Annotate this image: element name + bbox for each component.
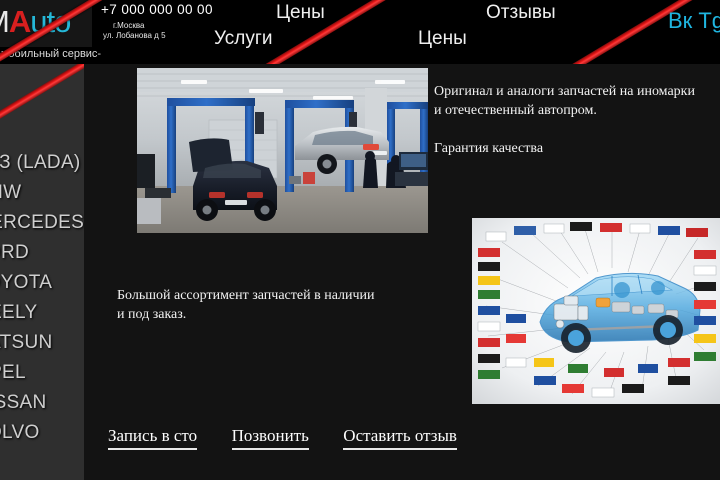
- parts-diagram-photo: [472, 218, 720, 404]
- intro-copy-line-3: Гарантия качества: [434, 139, 720, 158]
- copy-spacer: [434, 120, 720, 139]
- intro-copy-line-1: Оригинал и аналоги запчастей на иномарки: [434, 82, 720, 101]
- workshop-photo: [137, 68, 428, 233]
- action-link-call[interactable]: Позвонить: [232, 426, 309, 450]
- sidebar-item-vaz[interactable]: ВАЗ (LADA): [0, 148, 84, 178]
- assortment-copy-line-1: Большой ассортимент запчастей в наличии: [117, 286, 447, 305]
- assortment-copy: Большой ассортимент запчастей в наличии …: [117, 286, 447, 324]
- site-header: MAuto автомобильный сервис- +7 000 000 0…: [0, 0, 720, 64]
- nav-link-prices-top[interactable]: Цены: [276, 2, 325, 24]
- page-root: MAuto автомобильный сервис- +7 000 000 0…: [0, 0, 720, 480]
- phone-number[interactable]: +7 000 000 00 00: [101, 2, 213, 17]
- nav-link-reviews[interactable]: Отзывы: [486, 2, 556, 24]
- telegram-link[interactable]: Tg: [698, 8, 720, 33]
- sidebar-item-datsun[interactable]: DATSUN: [0, 328, 84, 358]
- sidebar-item-toyota[interactable]: TOYOTA: [0, 268, 84, 298]
- brand-sidebar: ВАЗ (LADA) BMW MERCEDES FORD TOYOTA GEEL…: [0, 64, 84, 480]
- address-street: ул. Лобанова д 5: [103, 31, 213, 40]
- diagonal-stripe: [0, 64, 84, 153]
- sidebar-item-volvo[interactable]: VOLVO: [0, 418, 84, 448]
- logo-letter-m: M: [0, 4, 9, 39]
- nav-link-services[interactable]: Услуги: [214, 28, 272, 50]
- logo-tagline: автомобильный сервис-: [0, 48, 98, 60]
- logo-letters-uto: uto: [30, 4, 70, 39]
- logo-letter-a: A: [9, 4, 30, 39]
- brand-list: ВАЗ (LADA) BMW MERCEDES FORD TOYOTA GEEL…: [0, 148, 84, 448]
- social-links: ВкTg: [668, 8, 720, 34]
- address-city: г.Москва: [113, 21, 213, 30]
- intro-copy-line-2: и отечественный автопром.: [434, 101, 720, 120]
- action-links: Запись в сто Позвонить Оставить отзыв: [108, 426, 538, 450]
- logo-wordmark: MAuto: [0, 4, 70, 40]
- sidebar-item-geely[interactable]: GEELY: [0, 298, 84, 328]
- contact-block: +7 000 000 00 00 г.Москва ул. Лобанова д…: [101, 2, 213, 40]
- workshop-illustration: [137, 68, 428, 233]
- main-content: Оригинал и аналоги запчастей на иномарки…: [84, 64, 720, 480]
- action-link-book-service[interactable]: Запись в сто: [108, 426, 197, 450]
- vk-link[interactable]: Вк: [668, 8, 692, 33]
- sidebar-item-opel[interactable]: OPEL: [0, 358, 84, 388]
- sidebar-item-mercedes[interactable]: MERCEDES: [0, 208, 84, 238]
- sidebar-item-bmw[interactable]: BMW: [0, 178, 84, 208]
- nav-link-prices-mid[interactable]: Цены: [418, 28, 467, 50]
- assortment-copy-line-2: и под заказ.: [117, 305, 447, 324]
- sidebar-item-nissan[interactable]: NISSAN: [0, 388, 84, 418]
- action-link-leave-review[interactable]: Оставить отзыв: [343, 426, 457, 450]
- sidebar-item-ford[interactable]: FORD: [0, 238, 84, 268]
- parts-diagram-illustration: [472, 218, 720, 404]
- logo[interactable]: MAuto: [0, 0, 92, 47]
- intro-copy-right: Оригинал и аналоги запчастей на иномарки…: [434, 82, 720, 158]
